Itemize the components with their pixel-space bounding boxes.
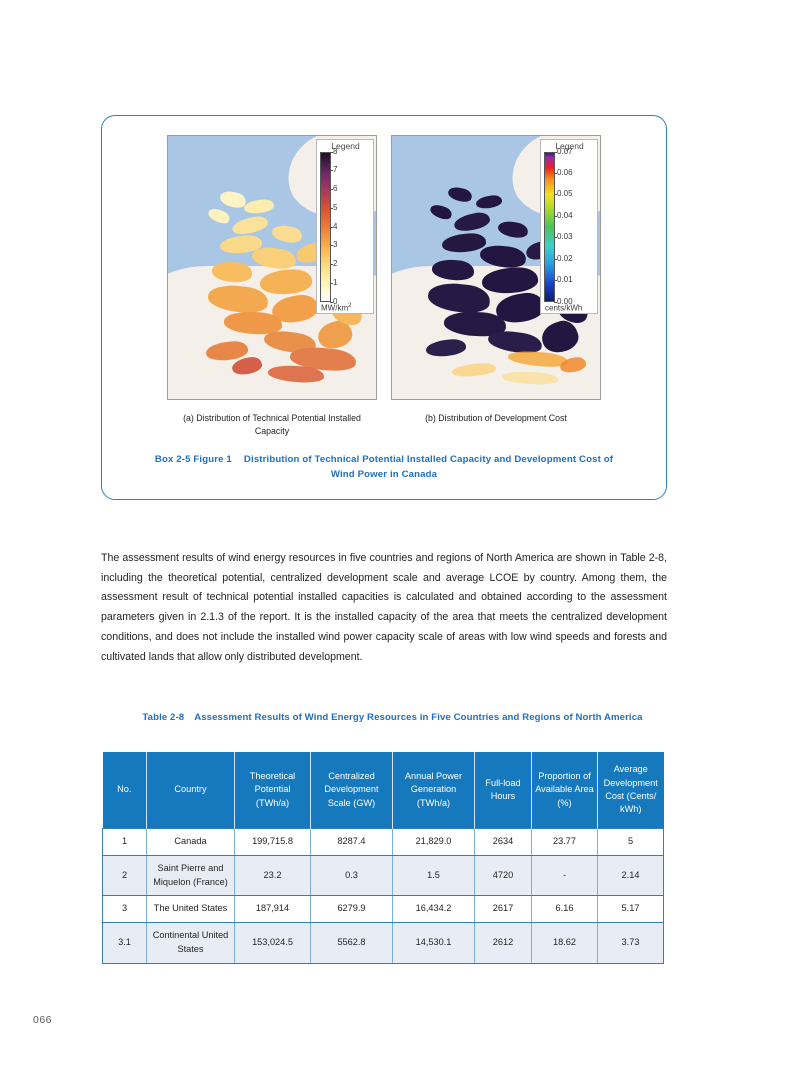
colorbar-tick: 6 — [333, 185, 337, 193]
column-header-average-development-cost: Average Development Cost (Cents/ kWh) — [598, 752, 664, 829]
cell-annual-generation: 21,829.0 — [393, 829, 475, 856]
colorbar-legend: Legend 8 7 6 5 4 3 2 1 0 MW/km2 — [316, 139, 374, 314]
cell-full-load-hours: 2617 — [475, 896, 532, 923]
colorbar-tick: 0.02 — [557, 255, 573, 263]
colorbar-tick: 7 — [333, 166, 337, 174]
column-header-annual-power-generation: Annual Power Generation (TWh/a) — [393, 752, 475, 829]
cell-theoretical-potential: 23.2 — [235, 855, 311, 896]
column-header-proportion-available-area: Proportion of Available Area (%) — [532, 752, 598, 829]
map-sublabels: (a) Distribution of Technical Potential … — [102, 412, 666, 438]
colorbar-tick: 0.06 — [557, 169, 573, 177]
table-header-row: No. Country Theoretical Potential (TWh/a… — [103, 752, 664, 829]
cell-available-area-pct: 23.77 — [532, 829, 598, 856]
colorbar-tick: 0.01 — [557, 276, 573, 284]
cell-no: 3 — [103, 896, 147, 923]
table-row: 3.1 Continental United States 153,024.5 … — [103, 923, 664, 964]
cell-centralized-scale: 8287.4 — [311, 829, 393, 856]
cell-annual-generation: 14,530.1 — [393, 923, 475, 964]
colorbar-tick: 0.00 — [557, 298, 573, 306]
cell-full-load-hours: 2634 — [475, 829, 532, 856]
table-row: 2 Saint Pierre and Miquelon (France) 23.… — [103, 855, 664, 896]
cell-centralized-scale: 5562.8 — [311, 923, 393, 964]
cell-theoretical-potential: 153,024.5 — [235, 923, 311, 964]
cell-country: Canada — [147, 829, 235, 856]
colorbar-ticks: 0.07 0.06 0.05 0.04 0.03 0.02 0.01 0.00 — [557, 152, 595, 302]
cell-theoretical-potential: 187,914 — [235, 896, 311, 923]
cell-no: 3.1 — [103, 923, 147, 964]
colorbar-ticks: 8 7 6 5 4 3 2 1 0 — [333, 152, 371, 302]
colorbar-tick: 1 — [333, 279, 337, 287]
cell-country: Saint Pierre and Miquelon (France) — [147, 855, 235, 896]
map-technical-potential: Legend 8 7 6 5 4 3 2 1 0 MW/km2 — [167, 135, 377, 400]
maps-row: Legend 8 7 6 5 4 3 2 1 0 MW/km2 — [102, 135, 666, 400]
cell-no: 2 — [103, 855, 147, 896]
colorbar-tick: 2 — [333, 260, 337, 268]
cell-avg-dev-cost: 3.73 — [598, 923, 664, 964]
cell-avg-dev-cost: 2.14 — [598, 855, 664, 896]
cell-full-load-hours: 4720 — [475, 855, 532, 896]
cell-available-area-pct: 6.16 — [532, 896, 598, 923]
figure-caption: Box 2-5 Figure 1Distribution of Technica… — [142, 453, 626, 483]
colorbar-tick: 0.04 — [557, 212, 573, 220]
table-label: Table 2-8 — [142, 712, 184, 723]
figure-caption-label: Box 2-5 Figure 1 — [155, 454, 232, 465]
figure-caption-text: Distribution of Technical Potential Inst… — [244, 454, 613, 480]
figure-box: Legend 8 7 6 5 4 3 2 1 0 MW/km2 — [101, 115, 667, 500]
column-header-theoretical-potential: Theoretical Potential (TWh/a) — [235, 752, 311, 829]
legend-unit: MW/km2 — [320, 303, 371, 313]
table-title-text: Assessment Results of Wind Energy Resour… — [194, 712, 642, 723]
column-header-no: No. — [103, 752, 147, 829]
cell-available-area-pct: 18.62 — [532, 923, 598, 964]
cell-country: The United States — [147, 896, 235, 923]
colorbar-tick: 5 — [333, 204, 337, 212]
column-header-full-load-hours: Full-load Hours — [475, 752, 532, 829]
page-number: 066 — [33, 1014, 52, 1026]
colorbar-tick: 3 — [333, 241, 337, 249]
map-development-cost: Legend 0.07 0.06 0.05 0.04 0.03 0.02 0.0… — [391, 135, 601, 400]
legend-unit-superscript: 2 — [348, 303, 351, 309]
colorbar-tick: 0.03 — [557, 233, 573, 241]
cell-theoretical-potential: 199,715.8 — [235, 829, 311, 856]
table-title: Table 2-8Assessment Results of Wind Ener… — [120, 710, 665, 725]
colorbar-tick: 8 — [333, 148, 337, 156]
column-header-country: Country — [147, 752, 235, 829]
colorbar-tick: 0.05 — [557, 190, 573, 198]
table-row: 1 Canada 199,715.8 8287.4 21,829.0 2634 … — [103, 829, 664, 856]
cell-centralized-scale: 6279.9 — [311, 896, 393, 923]
cell-avg-dev-cost: 5 — [598, 829, 664, 856]
cell-available-area-pct: - — [532, 855, 598, 896]
cell-full-load-hours: 2612 — [475, 923, 532, 964]
cell-no: 1 — [103, 829, 147, 856]
column-header-centralized-development-scale: Centralized Development Scale (GW) — [311, 752, 393, 829]
map-sublabel-a: (a) Distribution of Technical Potential … — [167, 412, 377, 438]
cell-annual-generation: 16,434.2 — [393, 896, 475, 923]
cell-avg-dev-cost: 5.17 — [598, 896, 664, 923]
legend-title: Legend — [320, 142, 371, 151]
cell-centralized-scale: 0.3 — [311, 855, 393, 896]
table-row: 3 The United States 187,914 6279.9 16,43… — [103, 896, 664, 923]
colorbar-tick: 4 — [333, 223, 337, 231]
cell-country: Continental United States — [147, 923, 235, 964]
colorbar-legend: Legend 0.07 0.06 0.05 0.04 0.03 0.02 0.0… — [540, 139, 598, 314]
assessment-results-table: No. Country Theoretical Potential (TWh/a… — [102, 752, 664, 964]
colorbar-tick: 0 — [333, 298, 337, 306]
colorbar-tick: 0.07 — [557, 148, 573, 156]
body-paragraph: The assessment results of wind energy re… — [101, 549, 667, 668]
colorbar-gradient — [544, 152, 555, 302]
cell-annual-generation: 1.5 — [393, 855, 475, 896]
map-sublabel-b: (b) Distribution of Development Cost — [391, 412, 601, 438]
